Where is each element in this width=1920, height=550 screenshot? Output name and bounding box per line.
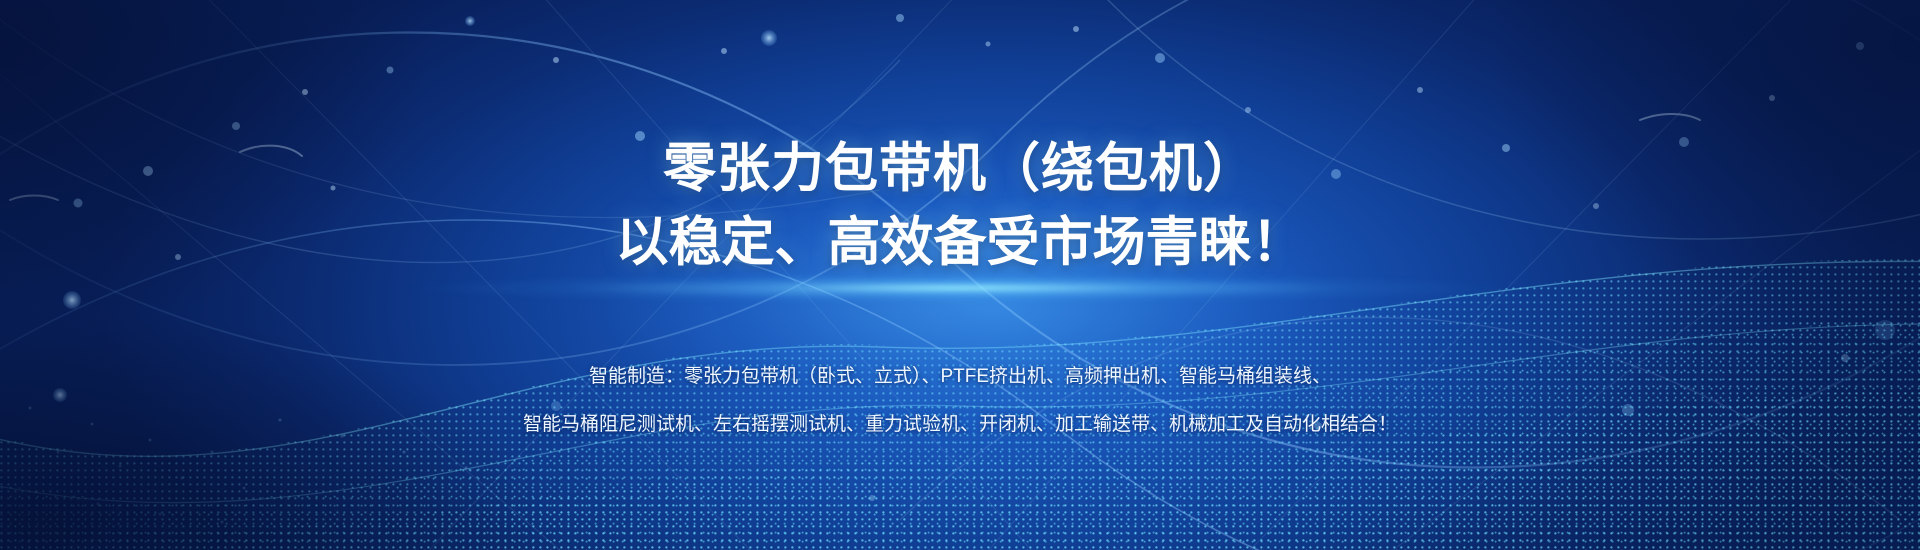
subtitle-line-2: 智能马桶阻尼测试机、左右摇摆测试机、重力试验机、开闭机、加工输送带、机械加工及自… [523, 401, 1397, 449]
hero-banner: 零张力包带机（绕包机） 以稳定、高效备受市场青睐！ 智能制造：零张力包带机（卧式… [0, 0, 1920, 550]
banner-subtitle: 智能制造：零张力包带机（卧式、立式）、PTFE挤出机、高频押出机、智能马桶组装线… [523, 353, 1397, 449]
banner-headline: 零张力包带机（绕包机） 以稳定、高效备受市场青睐！ [616, 132, 1305, 280]
subtitle-line-1: 智能制造：零张力包带机（卧式、立式）、PTFE挤出机、高频押出机、智能马桶组装线… [523, 353, 1397, 401]
headline-line-1: 零张力包带机（绕包机） [663, 139, 1257, 198]
banner-content: 零张力包带机（绕包机） 以稳定、高效备受市场青睐！ 智能制造：零张力包带机（卧式… [0, 0, 1920, 550]
headline-line-2: 以稳定、高效备受市场青睐！ [616, 213, 1305, 272]
